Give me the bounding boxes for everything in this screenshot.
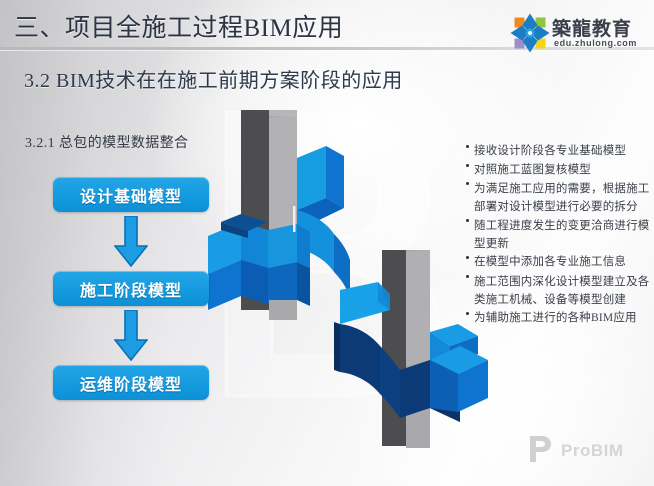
down-arrow-icon bbox=[114, 310, 148, 361]
flow-box-design-base-model[interactable]: 设计基础模型 bbox=[53, 177, 209, 212]
probim-watermark: ProBIM bbox=[528, 434, 646, 464]
down-arrow-icon bbox=[114, 216, 148, 267]
flow-box-construction-stage-model[interactable]: 施工阶段模型 bbox=[53, 271, 209, 306]
bullet-list: 接收设计阶段各专业基础模型 对照施工蓝图复核模型 为满足施工应用的需要，根据施工… bbox=[466, 143, 650, 328]
flow-connector-2 bbox=[53, 306, 209, 365]
bim-beam-column-model-upper bbox=[208, 110, 398, 325]
list-item: 对照施工蓝图复核模型 bbox=[466, 162, 650, 180]
zhulong-flower-icon bbox=[510, 13, 550, 53]
page-subtitle: 3.2 BIM技术在在施工前期方案阶段的应用 bbox=[24, 64, 403, 93]
list-item: 为满足施工应用的需要，根据施工部署对设计模型进行必要的拆分 bbox=[466, 180, 650, 216]
section-label: 3.2.1 总包的模型数据整合 bbox=[25, 132, 189, 152]
page-title: 三、项目全施工过程BIM应用 bbox=[14, 8, 343, 44]
list-item: 施工范围内深化设计模型建立及各类施工机械、设备等模型创建 bbox=[466, 273, 650, 309]
list-item: 随工程进度发生的变更洽商进行模型更新 bbox=[466, 217, 650, 253]
flow-connector-1 bbox=[53, 212, 209, 271]
list-item: 为辅助施工进行的各种BIM应用 bbox=[466, 310, 650, 328]
model-flow-chart: 设计基础模型 施工阶段模型 运维阶段模型 bbox=[53, 177, 209, 400]
flow-box-operation-stage-model[interactable]: 运维阶段模型 bbox=[53, 365, 209, 400]
zhulong-logo-url: edu.zhulong.com bbox=[554, 38, 637, 48]
zhulong-logo-text: 築龍教育 bbox=[552, 14, 632, 41]
background-b-watermark bbox=[186, 96, 486, 416]
zhulong-logo[interactable]: 築龍教育 edu.zhulong.com bbox=[504, 10, 648, 56]
svg-text:ProBIM: ProBIM bbox=[561, 441, 624, 460]
list-item: 在模型中添加各专业施工信息 bbox=[466, 254, 650, 272]
slide-canvas: 三、项目全施工过程BIM应用 3.2 BIM技术在在施工前期方案阶段的应用 築龍… bbox=[0, 0, 654, 486]
list-item: 接收设计阶段各专业基础模型 bbox=[466, 143, 650, 161]
